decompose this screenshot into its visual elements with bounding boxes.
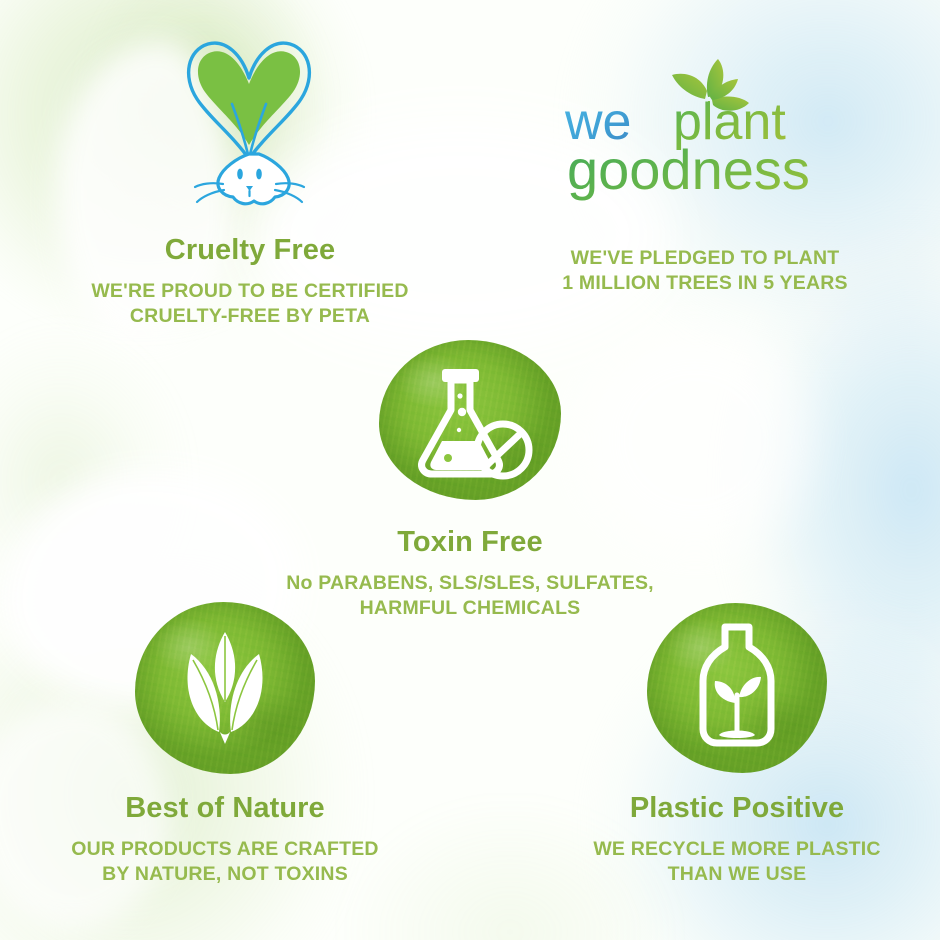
three-leaves-icon	[135, 602, 315, 774]
best-of-nature-badge	[135, 602, 315, 774]
infographic-poster: Cruelty Free WE'RE PROUD TO BE CERTIFIED…	[0, 0, 940, 940]
plastic-positive-subtitle-line-2: THAN WE USE	[512, 862, 940, 887]
toxin-free-title: Toxin Free	[245, 526, 695, 559]
cruelty-free-subtitle: WE'RE PROUD TO BE CERTIFIED CRUELTY-FREE…	[25, 279, 475, 328]
cruelty-free-subtitle-line-1: WE'RE PROUD TO BE CERTIFIED	[25, 279, 475, 304]
logo-word-goodness: goodness	[567, 138, 810, 201]
feature-cruelty-free: Cruelty Free WE'RE PROUD TO BE CERTIFIED…	[25, 28, 475, 328]
cruelty-free-subtitle-line-2: CRUELTY-FREE BY PETA	[25, 304, 475, 329]
we-plant-goodness-logo-wrap: we plant goodness	[480, 28, 930, 228]
cruelty-free-icon-wrap	[25, 28, 475, 208]
toxin-free-badge	[379, 340, 561, 500]
we-plant-goodness-subtitle: WE'VE PLEDGED TO PLANT 1 MILLION TREES I…	[480, 246, 930, 295]
peta-bunny-heart-icon	[175, 28, 325, 208]
plastic-positive-icon-wrap	[512, 595, 940, 780]
best-of-nature-icon-wrap	[0, 595, 450, 780]
we-plant-goodness-subtitle-line-2: 1 MILLION TREES IN 5 YEARS	[480, 271, 930, 296]
plastic-positive-subtitle: WE RECYCLE MORE PLASTIC THAN WE USE	[512, 837, 940, 886]
feature-toxin-free: Toxin Free No PARABENS, SLS/SLES, SULFAT…	[245, 330, 695, 620]
bottle-sprout-icon	[647, 603, 827, 773]
feature-best-of-nature: Best of Nature OUR PRODUCTS ARE CRAFTED …	[0, 595, 450, 886]
toxin-free-subtitle-line-1: No PARABENS, SLS/SLES, SULFATES,	[245, 571, 695, 596]
feature-we-plant-goodness: we plant goodness WE'VE PLEDGED TO PLANT…	[480, 28, 930, 295]
plastic-positive-badge	[647, 603, 827, 773]
plastic-positive-subtitle-line-1: WE RECYCLE MORE PLASTIC	[512, 837, 940, 862]
flask-no-toxins-icon	[379, 340, 561, 500]
we-plant-goodness-subtitle-line-1: WE'VE PLEDGED TO PLANT	[480, 246, 930, 271]
feature-plastic-positive: Plastic Positive WE RECYCLE MORE PLASTIC…	[512, 595, 940, 886]
best-of-nature-subtitle-line-2: BY NATURE, NOT TOXINS	[0, 862, 450, 887]
best-of-nature-subtitle-line-1: OUR PRODUCTS ARE CRAFTED	[0, 837, 450, 862]
cruelty-free-title: Cruelty Free	[25, 234, 475, 267]
best-of-nature-subtitle: OUR PRODUCTS ARE CRAFTED BY NATURE, NOT …	[0, 837, 450, 886]
plastic-positive-title: Plastic Positive	[512, 792, 940, 825]
we-plant-goodness-logo: we plant goodness	[555, 53, 855, 203]
toxin-free-icon-wrap	[245, 330, 695, 510]
best-of-nature-title: Best of Nature	[0, 792, 450, 825]
